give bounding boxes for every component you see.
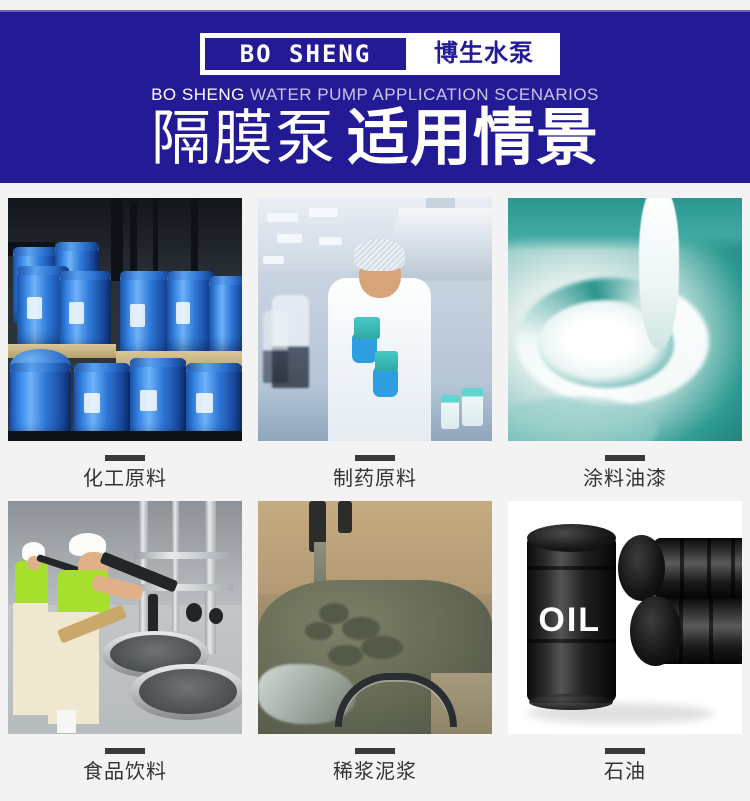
caption: 制药原料 <box>333 455 417 489</box>
caption-divider-bar <box>605 748 645 754</box>
grid-item[interactable]: 涂料油漆 <box>500 190 750 496</box>
scenario-image-food-beverage <box>8 501 242 734</box>
caption: 食品饮料 <box>83 748 167 782</box>
caption-label: 食品饮料 <box>83 762 167 782</box>
grid-item[interactable]: OIL 石油 <box>500 496 750 801</box>
page-root: BO SHENG 博生水泵 BO SHENG WATER PUMP APPLIC… <box>0 0 750 801</box>
caption: 化工原料 <box>83 455 167 489</box>
caption-label: 稀浆泥浆 <box>333 762 417 782</box>
caption-divider-bar <box>355 748 395 754</box>
banner-top-edge <box>0 10 750 12</box>
logo-cn-text: 博生水泵 <box>408 42 560 66</box>
caption: 石油 <box>604 748 646 782</box>
header-banner: BO SHENG 博生水泵 BO SHENG WATER PUMP APPLIC… <box>0 10 750 183</box>
banner-subtitle-brand: BO SHENG <box>151 85 250 104</box>
scenario-image-slurry-mud <box>258 501 492 734</box>
scenario-image-coating-paint <box>508 198 742 441</box>
caption-divider-bar <box>605 455 645 461</box>
grid-item[interactable]: 制药原料 <box>250 190 500 496</box>
caption-divider-bar <box>105 455 145 461</box>
banner-headline: 隔膜泵适用情景 <box>0 108 750 170</box>
caption-divider-bar <box>105 748 145 754</box>
logo-en-text: BO SHENG <box>240 42 372 66</box>
caption-label: 涂料油漆 <box>583 469 667 489</box>
grid-item[interactable]: 化工原料 <box>0 190 250 496</box>
brand-logo: BO SHENG 博生水泵 <box>200 33 560 75</box>
caption: 涂料油漆 <box>583 455 667 489</box>
headline-product: 隔膜泵 <box>151 105 337 172</box>
caption-label: 制药原料 <box>333 469 417 489</box>
caption-label: 石油 <box>604 762 646 782</box>
application-scenario-grid: 化工原料 <box>0 190 750 801</box>
caption: 稀浆泥浆 <box>333 748 417 782</box>
grid-item[interactable]: 食品饮料 <box>0 496 250 801</box>
scenario-image-chemical-raw-material <box>8 198 242 441</box>
headline-scenarios: 适用情景 <box>347 104 599 173</box>
scenario-image-pharmaceutical-raw-material <box>258 198 492 441</box>
grid-item[interactable]: 稀浆泥浆 <box>250 496 500 801</box>
banner-subtitle-rest: WATER PUMP APPLICATION SCENARIOS <box>250 85 599 104</box>
scenario-image-petroleum: OIL <box>508 501 742 734</box>
caption-label: 化工原料 <box>83 469 167 489</box>
logo-en-box: BO SHENG <box>203 36 408 72</box>
caption-divider-bar <box>355 455 395 461</box>
oil-drum-text: OIL <box>538 603 601 637</box>
banner-subtitle: BO SHENG WATER PUMP APPLICATION SCENARIO… <box>0 86 750 103</box>
